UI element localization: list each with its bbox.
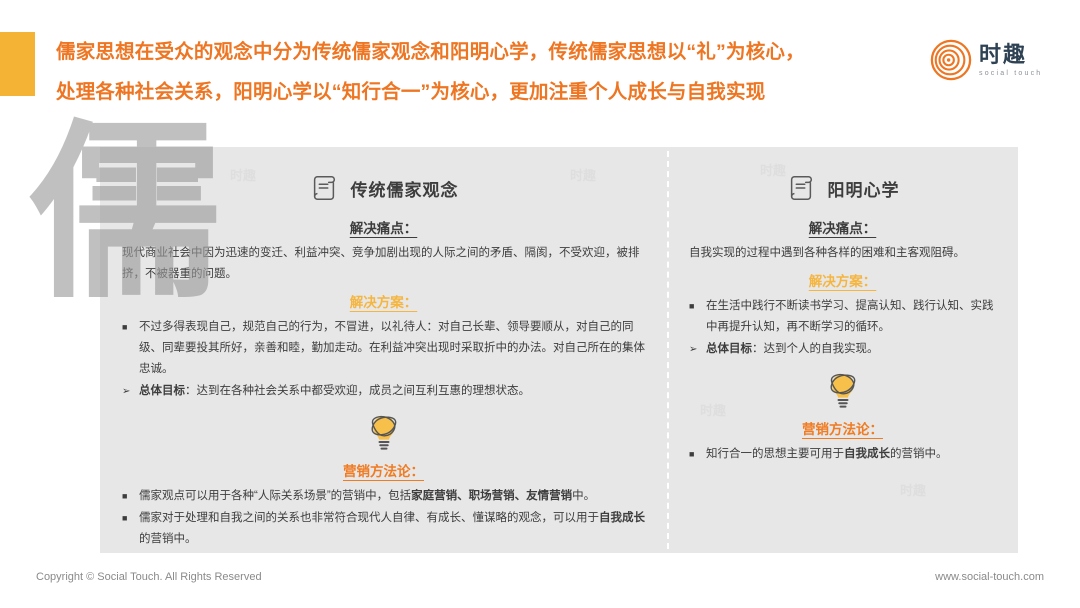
text-segment: 不过多得表现自己，规范自己的行为，不冒进，以礼待人：对自己长辈、领导要顺从，对自… xyxy=(139,321,645,375)
text-segment: 总体目标 xyxy=(706,343,752,355)
spiral-fingerprint-icon xyxy=(930,39,972,81)
list-item: 总体目标：达到在各种社会关系中都受欢迎，成员之间互利互惠的理想状态。 xyxy=(122,381,645,402)
footer-divider xyxy=(0,566,1080,567)
text-segment: 自我成长 xyxy=(844,448,890,460)
accent-bar xyxy=(0,32,35,96)
text-segment: 自我成长 xyxy=(599,512,645,524)
headline-line-1: 儒家思想在受众的观念中分为传统儒家观念和阳明心学，传统儒家思想以“礼”为核心， xyxy=(56,41,805,63)
list-item: 知行合一的思想主要可用于自我成长的营销中。 xyxy=(689,444,996,465)
section-heading-marketing-methodology: 营销方法论： xyxy=(689,418,996,438)
lightbulb-idea-icon xyxy=(122,412,645,454)
section-list: 在生活中践行不断读书学习、提高认知、践行认知、实践中再提升认知，再不断学习的循环… xyxy=(689,296,996,360)
list-item: 儒家观点可以用于各种“人际关系场景”的营销中，包括家庭营销、职场营销、友情营销中… xyxy=(122,486,645,507)
column-heading: 阳明心学 xyxy=(689,173,996,203)
text-segment: 儒家对于处理和自我之间的关系也非常符合现代人自律、有成长、懂谋略的观念，可以用于 xyxy=(139,512,599,524)
section-list: 不过多得表现自己，规范自己的行为，不冒进，以礼待人：对自己长辈、领导要顺从，对自… xyxy=(122,317,645,402)
text-segment: 总体目标 xyxy=(139,385,185,397)
section-list: 儒家观点可以用于各种“人际关系场景”的营销中，包括家庭营销、职场营销、友情营销中… xyxy=(122,486,645,550)
brand-logo: 时趣 social touch xyxy=(930,34,1050,86)
column-yangming-mind-study: 阳明心学 解决痛点：自我实现的过程中遇到各种各样的困难和主客观阻碍。解决方案：在… xyxy=(667,147,1018,553)
brand-name-en: social touch xyxy=(979,70,1042,77)
page-headline: 儒家思想在受众的观念中分为传统儒家观念和阳明心学，传统儒家思想以“礼”为核心， … xyxy=(56,32,936,112)
text-segment: 儒家观点可以用于各种“人际关系场景”的营销中，包括 xyxy=(139,490,411,502)
lightbulb-idea-icon xyxy=(689,370,996,412)
list-item: 不过多得表现自己，规范自己的行为，不冒进，以礼待人：对自己长辈、领导要顺从，对自… xyxy=(122,317,645,380)
slide-root: 儒家思想在受众的观念中分为传统儒家观念和阳明心学，传统儒家思想以“礼”为核心， … xyxy=(0,0,1080,608)
text-segment: 的营销中。 xyxy=(890,448,948,460)
column-title: 阳明心学 xyxy=(828,176,900,201)
text-segment: 的营销中。 xyxy=(139,533,197,545)
list-item: 儒家对于处理和自我之间的关系也非常符合现代人自律、有成长、懂谋略的观念，可以用于… xyxy=(122,508,645,550)
content-panel: 传统儒家观念 解决痛点：现代商业社会中因为迅速的变迁、利益冲突、竞争加剧出现的人… xyxy=(100,147,1018,553)
text-segment: 在生活中践行不断读书学习、提高认知、践行认知、实践中再提升认知，再不断学习的循环… xyxy=(706,300,994,333)
section-paragraph: 自我实现的过程中遇到各种各样的困难和主客观阻碍。 xyxy=(689,243,996,264)
brand-name-cn: 时趣 xyxy=(979,44,1042,66)
text-segment: 知行合一的思想主要可用于 xyxy=(706,448,844,460)
copyright-text: Copyright © Social Touch. All Rights Res… xyxy=(36,571,262,583)
brand-text: 时趣 social touch xyxy=(979,44,1042,77)
list-item: 总体目标：达到个人的自我实现。 xyxy=(689,339,996,360)
section-list: 知行合一的思想主要可用于自我成长的营销中。 xyxy=(689,444,996,465)
scroll-document-icon xyxy=(309,173,339,203)
section-heading-solution: 解决方案： xyxy=(689,270,996,290)
text-segment: 中。 xyxy=(572,490,595,502)
calligraphy-watermark: 儒 xyxy=(28,118,222,308)
text-segment: ：达到在各种社会关系中都受欢迎，成员之间互利互惠的理想状态。 xyxy=(185,385,530,397)
website-url: www.social-touch.com xyxy=(935,571,1044,583)
section-heading-marketing-methodology: 营销方法论： xyxy=(122,460,645,480)
section-heading-pain-points: 解决痛点： xyxy=(689,217,996,237)
list-item: 在生活中践行不断读书学习、提高认知、践行认知、实践中再提升认知，再不断学习的循环… xyxy=(689,296,996,338)
column-title: 传统儒家观念 xyxy=(351,176,459,201)
text-segment: ：达到个人的自我实现。 xyxy=(752,343,879,355)
scroll-document-icon xyxy=(786,173,816,203)
text-segment: 家庭营销、职场营销、友情营销 xyxy=(411,490,572,502)
